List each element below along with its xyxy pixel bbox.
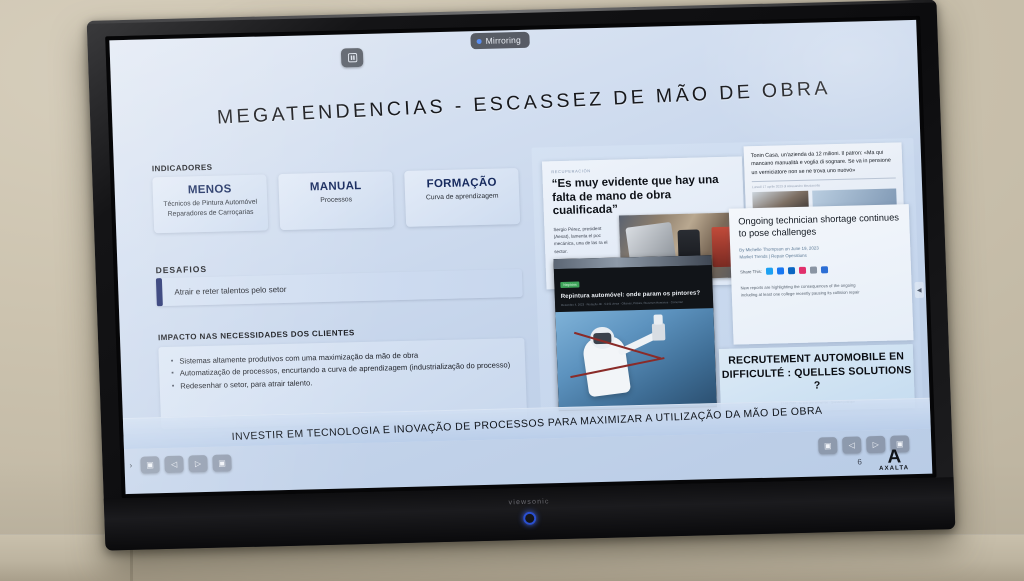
impacto-bullet-text: Redesenhar o setor, para atrair talento. — [180, 377, 313, 392]
mirroring-indicator-dot — [477, 38, 482, 43]
section-label-impacto: IMPACTO NAS NECESSIDADES DOS CLIENTES — [158, 328, 355, 342]
slide-title: MEGATENDENCIAS - ESCASSEZ DE MÃO DE OBRA — [204, 77, 844, 131]
indicator-title: MANUAL — [279, 179, 393, 194]
indicator-subtitle: Processos — [279, 194, 393, 207]
annotate-icon[interactable]: ▣ — [818, 437, 838, 454]
indicator-card: FORMAÇÃO Curva de aprendizagem — [404, 168, 520, 227]
bullet-dot-icon: ▪ — [171, 356, 174, 367]
indicator-card: MANUAL Processos — [278, 171, 394, 230]
portuguese-category-tag: Negócios — [560, 282, 580, 288]
portuguese-meta: Dezembro 4, 2023 · Redação JE · 5.241 vi… — [561, 299, 707, 307]
linkedin-icon[interactable] — [788, 267, 795, 274]
desafio-text: Atrair e reter talentos pelo setor — [174, 284, 286, 296]
indicator-subtitle: Curva de aprendizagem — [405, 191, 519, 204]
axalta-mark-icon: A — [869, 448, 918, 466]
indicator-subtitle: Técnicos de Pintura Automóvel Reparadore… — [153, 197, 268, 220]
indicator-title: FORMAÇÃO — [404, 176, 518, 191]
display-brand-label: viewsonic — [508, 498, 549, 506]
presentation-slide: MEGATENDENCIAS - ESCASSEZ DE MÃO DE OBRA… — [110, 46, 932, 494]
display-panel-frame: Mirroring MEGATENDENCIAS - ESCASSEZ DE M… — [105, 16, 936, 498]
portuguese-photo-painter — [555, 308, 716, 410]
portuguese-headline: Repintura automóvel: onde param os pinto… — [561, 290, 707, 300]
print-icon[interactable] — [810, 266, 817, 273]
spanish-headline: “Es muy evidente que hay una falta de ma… — [552, 174, 735, 219]
mirroring-status[interactable]: Mirroring — [470, 32, 530, 49]
english-headline: Ongoing technician shortage continues to… — [738, 212, 901, 240]
indicator-title: MENOS — [153, 182, 267, 197]
display-screen: Mirroring MEGATENDENCIAS - ESCASSEZ DE M… — [109, 20, 932, 494]
portuguese-header-bar: Negócios Repintura automóvel: onde param… — [554, 265, 713, 312]
previous-slide-icon[interactable]: ◁ — [842, 436, 862, 453]
spray-gun-cup — [654, 314, 663, 324]
annotate-icon[interactable]: ▣ — [140, 456, 160, 473]
wall-mounted-display: Mirroring MEGATENDENCIAS - ESCASSEZ DE M… — [87, 0, 956, 551]
section-label-indicadores: INDICADORES — [152, 163, 213, 174]
page-number: 6 — [857, 457, 862, 466]
previous-slide-icon[interactable]: ◁ — [164, 456, 184, 473]
facebook-icon[interactable] — [777, 267, 784, 274]
news-clipping-english: Ongoing technician shortage continues to… — [729, 204, 914, 344]
axalta-wordmark: AXALTA — [870, 465, 918, 472]
next-slide-icon[interactable]: ▷ — [188, 455, 208, 472]
edge-chevron-icon[interactable]: › — [129, 461, 132, 470]
twitter-icon[interactable] — [766, 267, 773, 274]
news-clipping-portuguese: Negócios Repintura automóvel: onde param… — [553, 255, 716, 411]
news-clipping-collage: RECUPERACIÓN “Es muy evidente que hay un… — [531, 138, 923, 423]
spanish-body-text: Sergio Pérez, president (Aesat), lamenta… — [553, 224, 612, 255]
spanish-kicker: RECUPERACIÓN — [551, 165, 733, 175]
desafio-accent-bar — [156, 278, 163, 306]
left-toolbar: ▣ ◁ ▷ ▣ — [140, 454, 232, 473]
instagram-icon[interactable] — [799, 267, 806, 274]
desafio-row: Atrair e reter talentos pelo setor — [156, 269, 523, 306]
spray-gun — [652, 323, 666, 340]
screen-share-icon[interactable]: ▣ — [212, 454, 232, 471]
mirroring-label: Mirroring — [485, 35, 521, 46]
power-led-indicator — [523, 512, 536, 525]
french-headline: RECRUTEMENT AUTOMOBILE EN DIFFICULTÉ : Q… — [719, 350, 914, 396]
share-label: Share This: — [740, 269, 762, 275]
section-label-desafios: DESAFIOS — [155, 264, 207, 275]
right-edge-tab-icon[interactable]: ◀ — [915, 282, 925, 298]
english-share-row: Share This: — [740, 264, 902, 275]
email-icon[interactable] — [821, 266, 828, 273]
bullet-dot-icon: ▪ — [172, 381, 175, 392]
axalta-logo: A AXALTA — [869, 448, 918, 472]
italian-headline: Tonin Casa, un'azienda da 12 milioni. Il… — [751, 149, 896, 178]
indicator-card: MENOS Técnicos de Pintura Automóvel Repa… — [152, 174, 268, 233]
bullet-dot-icon: ▪ — [171, 368, 174, 379]
